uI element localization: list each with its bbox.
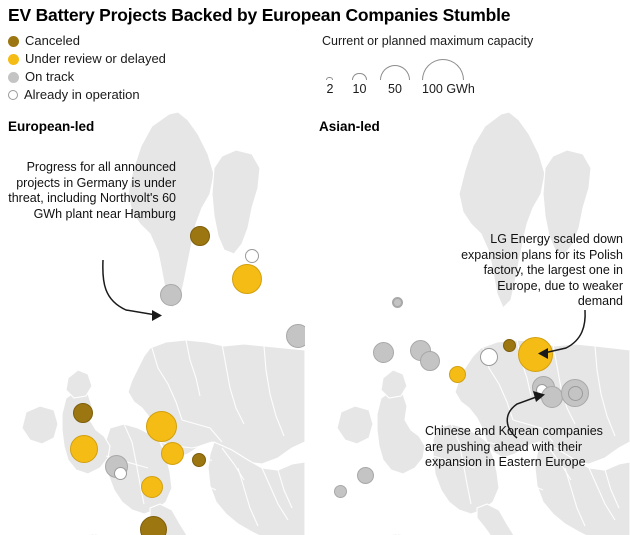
project-bubble-on-track[interactable] bbox=[286, 324, 305, 348]
project-bubble-already-in-operation[interactable] bbox=[245, 249, 259, 263]
map-asian-led bbox=[313, 112, 630, 535]
project-bubble-under-review[interactable] bbox=[449, 366, 466, 383]
hollow-dot-icon bbox=[8, 90, 18, 100]
legend-item-label: Already in operation bbox=[24, 87, 140, 103]
panel-european-led: European-led Progress for all announced … bbox=[0, 112, 305, 535]
size-arc-10 bbox=[352, 73, 367, 81]
size-arc-label: 10 bbox=[348, 82, 371, 97]
filled-dot-icon bbox=[8, 54, 19, 65]
project-bubble-under-review[interactable] bbox=[232, 264, 262, 294]
page-title: EV Battery Projects Backed by European C… bbox=[8, 4, 626, 26]
capacity-size-legend: Current or planned maximum capacity 2 10… bbox=[322, 34, 533, 97]
annotation-lg-energy: LG Energy scaled down expansion plans fo… bbox=[453, 232, 623, 310]
project-bubble-canceled[interactable] bbox=[190, 226, 210, 246]
project-bubble-on-track[interactable] bbox=[392, 297, 403, 308]
legend-item-on-track: On track bbox=[8, 68, 166, 86]
size-arc-50 bbox=[380, 65, 410, 80]
legend-item-label: Canceled bbox=[25, 33, 80, 49]
infographic-root: EV Battery Projects Backed by European C… bbox=[0, 0, 630, 535]
size-arc-100 bbox=[422, 59, 464, 80]
legend-item-label: On track bbox=[25, 69, 74, 85]
project-bubble-canceled[interactable] bbox=[73, 403, 93, 423]
project-bubble-already-in-operation[interactable] bbox=[114, 467, 127, 480]
size-legend-title: Current or planned maximum capacity bbox=[322, 34, 533, 49]
annotation-eastern-europe: Chinese and Korean companies are pushing… bbox=[425, 424, 615, 471]
size-arc-label: 50 bbox=[383, 82, 407, 97]
size-legend-arcs: 2 10 50 100 GWh bbox=[322, 55, 497, 97]
filled-dot-icon bbox=[8, 36, 19, 47]
project-bubble-canceled[interactable] bbox=[503, 339, 516, 352]
size-arc-label: 2 bbox=[319, 82, 341, 97]
annotation-northvolt: Progress for all announced projects in G… bbox=[6, 160, 176, 222]
project-bubble-under-review[interactable] bbox=[161, 442, 184, 465]
project-bubble-already-in-operation[interactable] bbox=[480, 348, 498, 366]
project-bubble-under-review[interactable] bbox=[141, 476, 163, 498]
project-bubble-on-track[interactable] bbox=[420, 351, 440, 371]
project-bubble-on-track[interactable] bbox=[568, 386, 583, 401]
status-color-legend: Canceled Under review or delayed On trac… bbox=[8, 32, 166, 104]
size-arc-2 bbox=[326, 77, 333, 81]
panel-title-asian-led: Asian-led bbox=[319, 119, 380, 134]
project-bubble-canceled[interactable] bbox=[192, 453, 206, 467]
legend-item-already-in-operation: Already in operation bbox=[8, 86, 166, 104]
project-bubble-under-review[interactable] bbox=[70, 435, 98, 463]
size-arc-label: 100 GWh bbox=[422, 82, 492, 97]
legend-item-under-review: Under review or delayed bbox=[8, 50, 166, 68]
legend-item-label: Under review or delayed bbox=[25, 51, 166, 67]
annotation-arrow-northvolt bbox=[100, 260, 180, 328]
project-bubble-on-track[interactable] bbox=[357, 467, 374, 484]
filled-dot-icon bbox=[8, 72, 19, 83]
panel-asian-led: Asian-led LG Energy scaled down expansio… bbox=[313, 112, 630, 535]
panel-title-european-led: European-led bbox=[8, 119, 94, 134]
annotation-arrow-lg-energy bbox=[526, 310, 588, 362]
project-bubble-under-review-northvolt[interactable] bbox=[146, 411, 177, 442]
project-bubble-on-track[interactable] bbox=[373, 342, 394, 363]
project-bubble-on-track[interactable] bbox=[334, 485, 347, 498]
legend-item-canceled: Canceled bbox=[8, 32, 166, 50]
